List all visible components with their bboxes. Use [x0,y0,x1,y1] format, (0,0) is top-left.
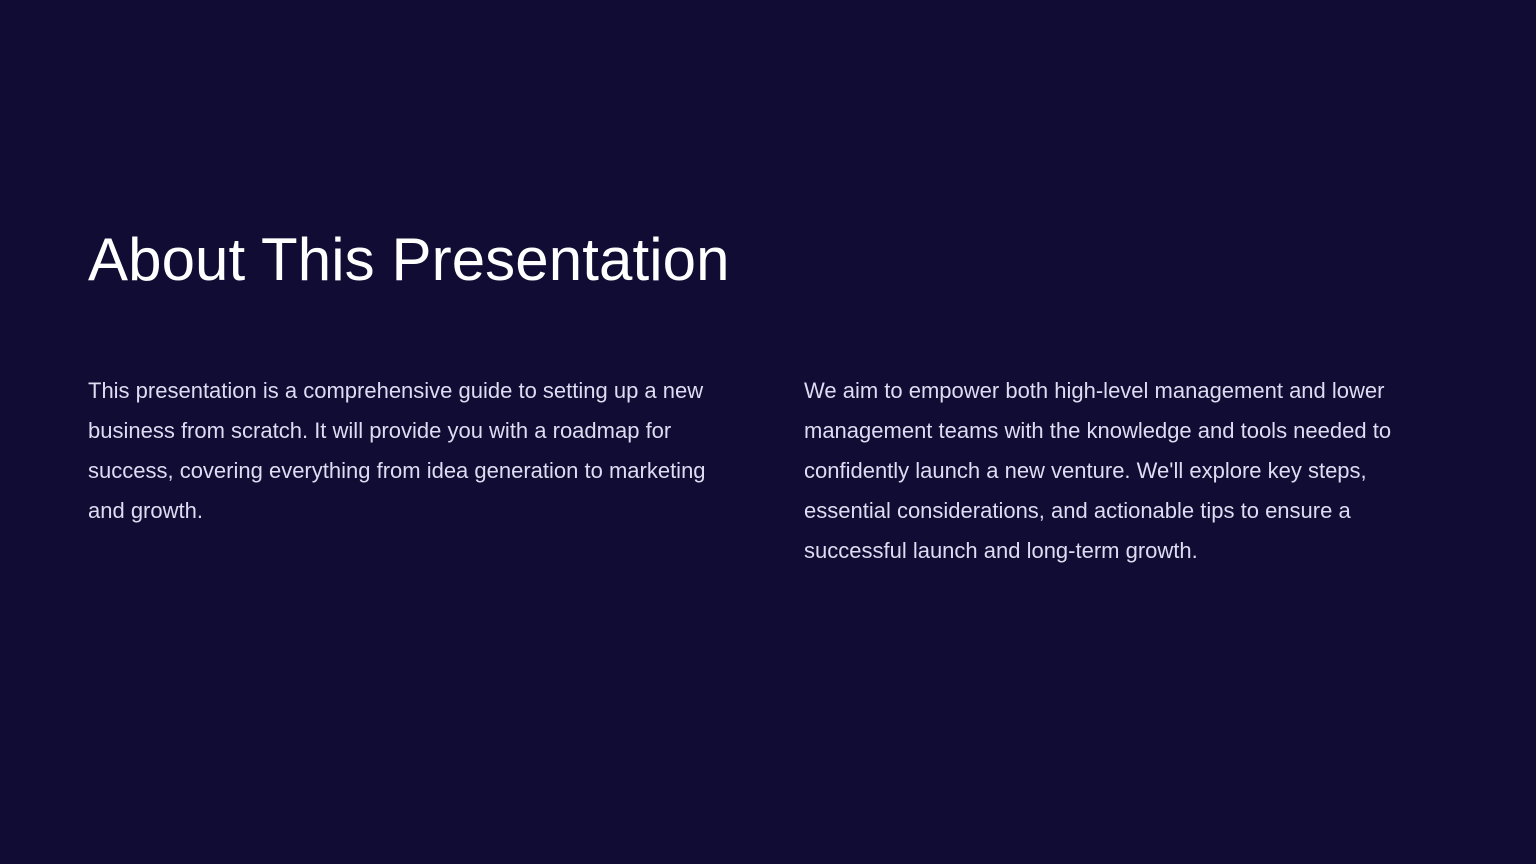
presentation-slide: About This Presentation This presentatio… [0,0,1536,864]
body-paragraph-left: This presentation is a comprehensive gui… [88,371,728,531]
body-column-right: We aim to empower both high-level manage… [804,371,1438,571]
body-paragraph-right: We aim to empower both high-level manage… [804,371,1438,571]
body-column-left: This presentation is a comprehensive gui… [88,371,728,531]
slide-content-area: About This Presentation This presentatio… [88,0,1432,864]
two-column-body: This presentation is a comprehensive gui… [88,371,1432,571]
page-title: About This Presentation [88,226,730,293]
